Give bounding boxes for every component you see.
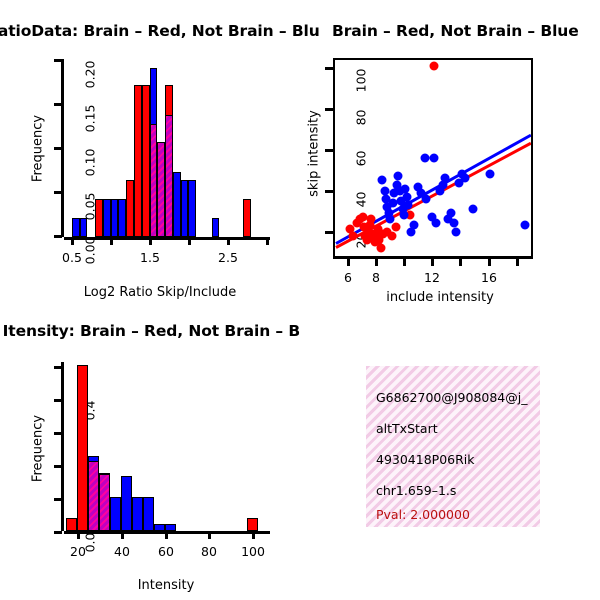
histogram-bar: [243, 199, 251, 237]
scatter-y-tick: [325, 190, 333, 193]
scatter-x-tick: [431, 258, 434, 266]
info-line-event-id: G6862700@J908084@j_: [376, 390, 527, 405]
scatter-point: [431, 219, 440, 228]
hist-ratio-x-tick: [71, 237, 74, 245]
info-line-locus: chr1.659–1.s: [376, 483, 456, 498]
hist-intensity-x-tick: [165, 531, 168, 539]
hist-intensity-x-ticklabel: 80: [201, 544, 217, 559]
hist-intensity-bars: [64, 362, 270, 531]
scatter-point: [441, 174, 450, 183]
info-line-pval: Pval: 2.000000: [376, 507, 470, 522]
hist-ratio-x-ticklabel: 2.5: [218, 250, 238, 265]
hist-intensity-y-tick: [54, 399, 62, 402]
scatter-y-tick: [325, 149, 333, 152]
hist-intensity-x-axis-title: Intensity: [138, 578, 195, 593]
scatter-point: [452, 227, 461, 236]
histogram-bar: [188, 180, 196, 237]
hist-intensity-x-ticklabel: 40: [114, 544, 130, 559]
panel-hist-intensity-title: ne Itensity: Brain – Red, Not Brain – B: [0, 322, 300, 340]
histogram-bar: [150, 124, 158, 237]
hist-ratio-x-tick: [266, 237, 269, 245]
scatter-point: [348, 231, 357, 240]
histogram-bar: [103, 199, 111, 237]
scatter-point: [400, 211, 409, 220]
hist-ratio-x-axis: [64, 237, 270, 240]
scatter-point: [469, 205, 478, 214]
hist-ratio-bars: [64, 59, 270, 237]
info-line-event-type: altTxStart: [376, 421, 438, 436]
histogram-bar: [157, 142, 165, 238]
hist-ratio-y-tick: [54, 147, 62, 150]
histogram-bar: [118, 199, 126, 237]
hist-ratio-x-axis-title: Log2 Ratio Skip/Include: [84, 285, 236, 300]
info-line-gene-name: 4930418P06Rik: [376, 452, 475, 467]
panel-scatter: Brain – Red, Not Brain – Blue 20 40 60 8…: [300, 20, 600, 320]
scatter-point: [422, 194, 431, 203]
histogram-bar: [142, 85, 150, 237]
scatter-point: [446, 209, 455, 218]
scatter-point: [430, 62, 439, 71]
hist-ratio-x-ticklabel: 1.5: [140, 250, 160, 265]
scatter-x-tick: [488, 258, 491, 266]
histogram-bar: [77, 365, 88, 531]
hist-intensity-y-axis-title: Frequency: [31, 399, 46, 499]
hist-ratio-x-tick: [227, 237, 230, 245]
histogram-bar: [111, 199, 119, 237]
scatter-x-tick: [403, 258, 406, 266]
scatter-point: [394, 172, 403, 181]
scatter-x-ticklabel: 6: [344, 270, 352, 285]
scatter-point: [460, 174, 469, 183]
hist-intensity-x-tick: [121, 531, 124, 539]
scatter-x-ticklabel: 16: [481, 270, 497, 285]
histogram-bar: [72, 218, 80, 237]
hist-intensity-y-tick: [54, 432, 62, 435]
scatter-point: [521, 221, 530, 230]
scatter-point: [420, 154, 429, 163]
hist-ratio-y-tick: [54, 235, 62, 238]
scatter-y-tick: [325, 231, 333, 234]
scatter-point: [485, 170, 494, 179]
histogram-bar: [126, 180, 134, 237]
hist-intensity-x-tick: [252, 531, 255, 539]
panel-hist-ratio-title: RatioData: Brain – Red, Not Brain – Blu: [0, 22, 320, 40]
hist-intensity-y-tick: [54, 366, 62, 369]
event-info-box: G6862700@J908084@j_ altTxStart 4930418P0…: [366, 366, 540, 527]
hist-ratio-x-tick: [188, 237, 191, 245]
scatter-x-tick: [347, 258, 350, 266]
scatter-point: [376, 243, 385, 252]
scatter-x-axis-title: include intensity: [386, 290, 494, 305]
scatter-point: [366, 215, 375, 224]
hist-intensity-y-tick: [54, 498, 62, 501]
histogram-bar: [134, 85, 142, 237]
histogram-bar: [110, 497, 121, 531]
hist-ratio-x-tick: [110, 237, 113, 245]
scatter-x-ticklabel: 12: [424, 270, 440, 285]
histogram-bar: [88, 461, 99, 531]
panel-scatter-title: Brain – Red, Not Brain – Blue: [332, 22, 579, 40]
hist-intensity-x-ticklabel: 60: [158, 544, 174, 559]
histogram-bar: [165, 524, 176, 531]
scatter-point: [430, 154, 439, 163]
hist-intensity-y-tick: [54, 465, 62, 468]
histogram-bar: [66, 518, 77, 531]
scatter-point: [409, 221, 418, 230]
scatter-point: [404, 200, 413, 209]
hist-ratio-y-tick: [54, 191, 62, 194]
histogram-bar: [247, 518, 258, 531]
histogram-bar: [132, 497, 143, 531]
histogram-bar: [212, 218, 220, 237]
scatter-y-tick: [325, 108, 333, 111]
hist-intensity-y-tick: [54, 531, 62, 534]
panel-hist-ratio: RatioData: Brain – Red, Not Brain – Blu …: [0, 20, 290, 320]
hist-intensity-x-ticklabel: 20: [70, 544, 86, 559]
scatter-y-tick: [325, 67, 333, 70]
hist-intensity-x-tick: [77, 531, 80, 539]
scatter-x-ticklabel: 8: [372, 270, 380, 285]
scatter-point: [387, 231, 396, 240]
histogram-bar: [121, 476, 132, 531]
hist-ratio-y-tick: [54, 59, 62, 62]
histogram-bar: [154, 524, 165, 531]
hist-ratio-y-tick: [54, 103, 62, 106]
scatter-x-tick: [459, 258, 462, 266]
scatter-plot-area: [333, 58, 533, 258]
scatter-point: [377, 176, 386, 185]
scatter-x-tick: [375, 258, 378, 266]
hist-ratio-x-ticklabel: 0.5: [62, 250, 82, 265]
histogram-bar: [143, 497, 154, 531]
scatter-point: [386, 215, 395, 224]
scatter-y-axis-title: skip intensity: [307, 104, 322, 204]
histogram-bar: [99, 474, 110, 531]
histogram-bar: [181, 180, 189, 237]
histogram-bar: [173, 172, 181, 237]
histogram-bar: [95, 199, 103, 237]
panel-hist-intensity: ne Itensity: Brain – Red, Not Brain – B …: [0, 320, 290, 600]
hist-ratio-y-ticklabel: 0.00: [83, 237, 98, 277]
hist-intensity-x-tick: [208, 531, 211, 539]
histogram-bar: [80, 218, 88, 237]
hist-ratio-x-tick: [149, 237, 152, 245]
hist-ratio-y-axis-title: Frequency: [31, 99, 46, 199]
hist-intensity-x-ticklabel: 100: [241, 544, 265, 559]
scatter-point: [391, 223, 400, 232]
histogram-bar: [165, 115, 173, 237]
scatter-x-tick: [516, 258, 519, 266]
